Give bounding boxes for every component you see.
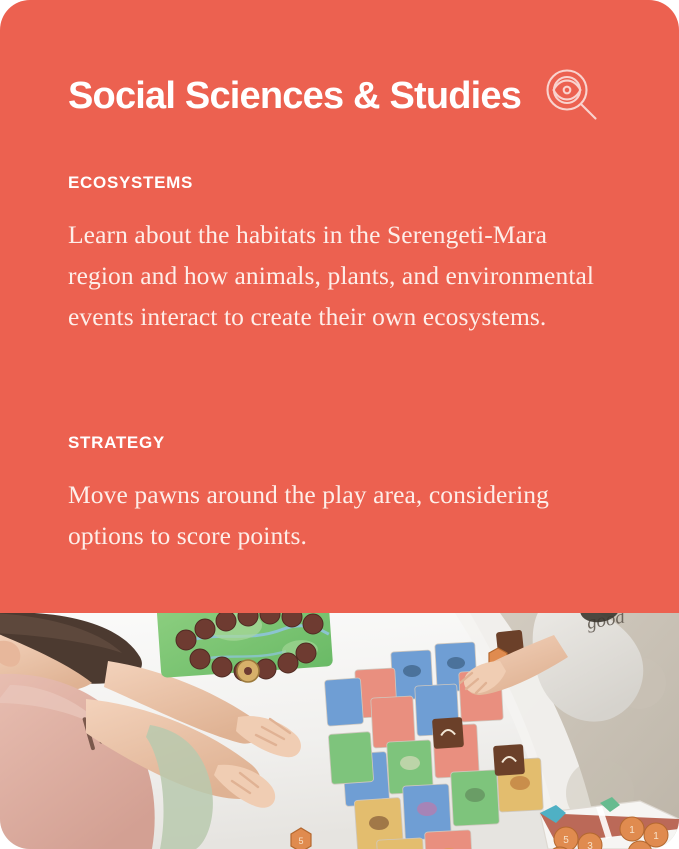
title-row: Social Sciences & Studies — [68, 64, 628, 128]
section-ecosystems: ECOSYSTEMS Learn about the habitats in t… — [68, 172, 613, 337]
svg-text:1: 1 — [653, 831, 659, 842]
svg-text:5: 5 — [563, 835, 569, 846]
svg-text:5: 5 — [298, 836, 303, 846]
info-panel: Social Sciences & Studies ECOSYSTEMS Lea… — [0, 0, 679, 613]
gameplay-photo: 5 7 good — [0, 613, 679, 849]
section-heading-strategy: STRATEGY — [68, 432, 613, 454]
svg-text:3: 3 — [587, 841, 593, 849]
page-title: Social Sciences & Studies — [68, 72, 521, 120]
magnifier-eye-icon — [543, 68, 601, 126]
section-body-strategy: Move pawns around the play area, conside… — [68, 474, 608, 556]
info-card: Social Sciences & Studies ECOSYSTEMS Lea… — [0, 0, 679, 849]
section-strategy: STRATEGY Move pawns around the play area… — [68, 432, 613, 556]
section-body-ecosystems: Learn about the habitats in the Serenget… — [68, 214, 608, 337]
section-heading-ecosystems: ECOSYSTEMS — [68, 172, 613, 194]
svg-text:1: 1 — [629, 825, 635, 836]
